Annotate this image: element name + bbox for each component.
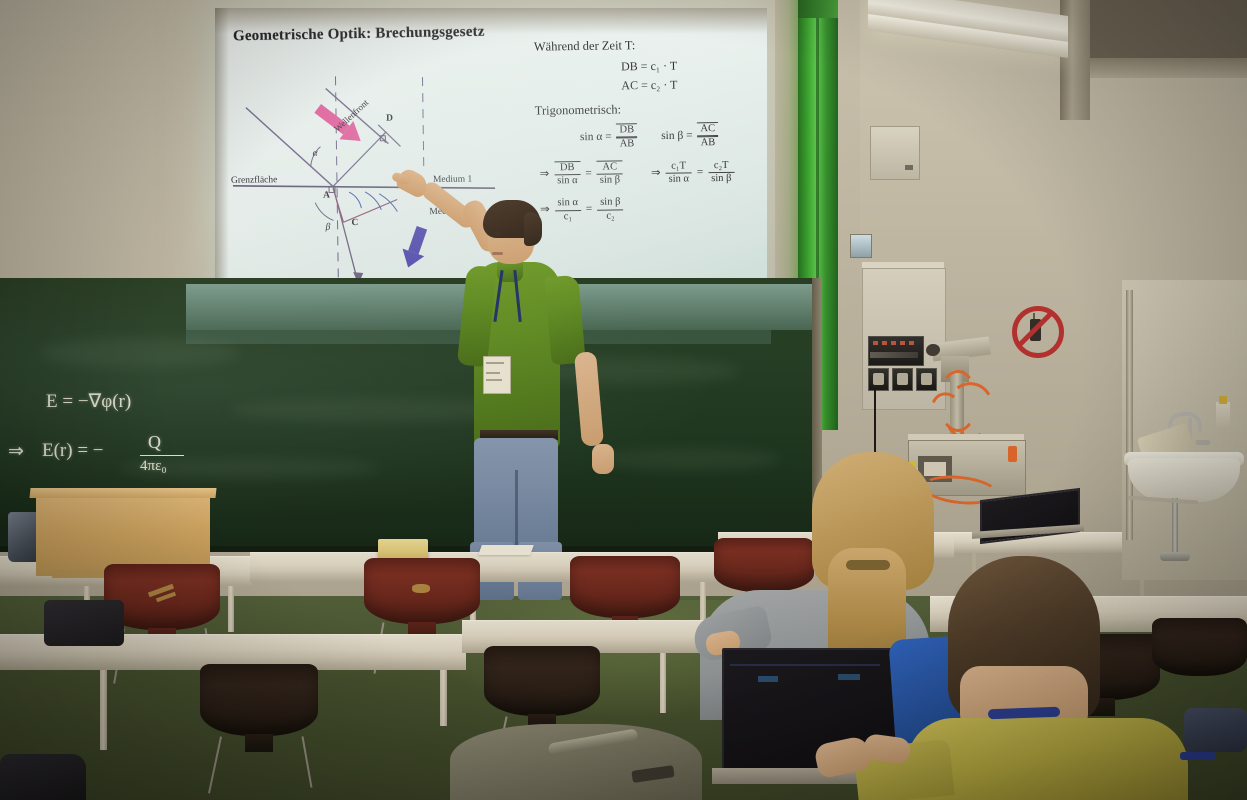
chair-red-4[interactable] [714, 538, 814, 592]
equation-ac: AC = c₂ · T [534, 74, 764, 96]
chalk-fraction-bar [140, 455, 184, 456]
r3-l-num: sin α [554, 197, 581, 210]
sin-alpha-denominator: AB [617, 137, 638, 150]
label-point-a: A [323, 190, 330, 200]
chair-red-2[interactable] [364, 558, 480, 624]
label-medium-1: Medium 1 [433, 174, 472, 185]
control-unit-readout [870, 352, 918, 358]
presenter-eye [494, 232, 501, 235]
chalk-line-1: E = −∇φ(r) [46, 390, 131, 413]
sin-alpha-fraction: DB AB [616, 123, 637, 150]
chair-dark-1[interactable] [200, 664, 318, 736]
ratio-left-2: c₁T sin α [665, 160, 692, 185]
optics-diagram: Grenzfläche Wellenfront Medium 1 Medium … [227, 68, 500, 302]
socket-2[interactable] [892, 368, 913, 391]
r2-l-num: DB [554, 161, 581, 175]
chalk-implies: ⇒ [8, 440, 24, 463]
implies-arrow-1: ⇒ [540, 168, 550, 180]
sin-alpha-expr: sin α = DB AB [580, 123, 640, 151]
sin-beta-fraction: AC AB [697, 122, 718, 149]
r2b-r-num: c₂T [708, 160, 734, 173]
final-group: ⇒ sin α c₁ = sin β c₂ [540, 197, 626, 223]
wall-green-reflection [775, 0, 799, 290]
equation-row-ratio: ⇒ DB sin α = AC sin β ⇒ c₁T sin α [535, 159, 765, 188]
label-point-c: C [351, 218, 358, 228]
bag-bottom-left [0, 754, 86, 800]
chair-red-3[interactable] [570, 556, 680, 618]
chair-dark-4[interactable] [1152, 618, 1247, 676]
equation-row-final: ⇒ sin α c₁ = sin β c₂ [536, 195, 766, 223]
sin-beta-label: sin β = [661, 130, 693, 142]
sin-beta-denominator: AB [698, 136, 719, 149]
green-rail-cap [798, 0, 838, 18]
heading-waehrend-der-zeit: Während der Zeit T: [534, 36, 764, 54]
implies-arrow-2: ⇒ [651, 167, 661, 179]
r2b-l-num: c₁T [665, 160, 692, 173]
wall-switch-box[interactable] [850, 234, 872, 258]
ratio-right-2: c₂T sin β [708, 160, 735, 185]
screen-top-shadow [215, 8, 767, 34]
pencil-case [1184, 708, 1247, 752]
socket-1[interactable] [868, 368, 889, 391]
ceiling-shadow [1090, 0, 1247, 60]
equals-1: = [585, 168, 592, 180]
sink-trap [1160, 552, 1190, 561]
r2b-r-den: sin β [708, 173, 734, 185]
sink-basin [1128, 458, 1240, 502]
sin-beta-numerator: AC [697, 122, 718, 136]
label-angle-beta: β [326, 222, 331, 232]
sink-post [1126, 290, 1133, 540]
sink-drain-pipe [1172, 498, 1178, 560]
presenter-mouth [492, 252, 503, 255]
r3-l-den: c₁ [555, 210, 582, 222]
bag-under-table [44, 600, 124, 646]
sin-alpha-label: sin α = [580, 131, 612, 143]
final-left: sin α c₁ [554, 197, 581, 222]
no-mobile-phone-icon [1012, 306, 1064, 358]
ratio-left-1: DB sin α [554, 161, 581, 187]
r2-r-den: sin β [597, 175, 623, 187]
wall-cabinet [870, 126, 920, 180]
label-point-d: D [386, 114, 393, 124]
final-right: sin β c₂ [597, 197, 624, 222]
equation-row-sines: sin α = DB AB sin β = AC AB [535, 122, 765, 152]
socket-3[interactable] [916, 368, 937, 391]
ratio-left-group: ⇒ DB sin α = AC sin β [539, 161, 625, 188]
chalk-fraction-numerator: Q [148, 432, 161, 453]
r3-r-num: sin β [597, 197, 623, 210]
blue-marker [1180, 752, 1216, 760]
sin-beta-expr: sin β = AC AB [661, 122, 720, 150]
equals-3: = [586, 203, 593, 215]
implies-arrow-3: ⇒ [540, 204, 550, 216]
ratio-right-group: ⇒ c₁T sin α = c₂T sin β [651, 160, 737, 186]
hair-tie [846, 560, 890, 570]
r2-l-den: sin α [554, 175, 581, 187]
backpack [450, 724, 702, 800]
wall-cabinet-handle[interactable] [905, 165, 913, 170]
equals-2: = [697, 166, 704, 178]
screen-left-shadow [215, 8, 229, 318]
presenter-hair-side [524, 212, 542, 246]
ratio-right-1: AC sin β [597, 161, 624, 187]
lecture-room-photo: Geometrische Optik: Brechungsgesetz [0, 0, 1247, 800]
presenter-right-hand [592, 444, 614, 474]
faucet-handle-right[interactable] [1196, 440, 1210, 445]
soap-dispenser[interactable] [1216, 402, 1230, 428]
sin-alpha-numerator: DB [616, 123, 637, 137]
r2-r-num: AC [597, 161, 623, 175]
presenter-jeans-seam [515, 470, 518, 550]
lectern-top [29, 488, 216, 498]
soap-dispenser-top [1219, 396, 1227, 404]
chair-dark-2[interactable] [484, 646, 600, 716]
label-grenzflaeche: Grenzfläche [231, 175, 278, 186]
chalk-line-2: E(r) = − [42, 440, 104, 462]
ceiling-shadow-edge [1090, 58, 1247, 78]
label-angle-alpha: α [312, 149, 317, 159]
projector-power-knob[interactable] [1008, 446, 1017, 462]
chalk-fraction-denominator: 4πε₀ [140, 458, 167, 475]
heading-trigonometrisch: Trigonometrisch: [535, 101, 765, 119]
r3-r-den: c₂ [597, 210, 623, 222]
slide-formula-column: Während der Zeit T: DB = c₁ · T AC = c₂ … [534, 36, 767, 223]
r2b-l-den: sin α [666, 173, 693, 185]
paper-sheet-1 [478, 545, 534, 555]
